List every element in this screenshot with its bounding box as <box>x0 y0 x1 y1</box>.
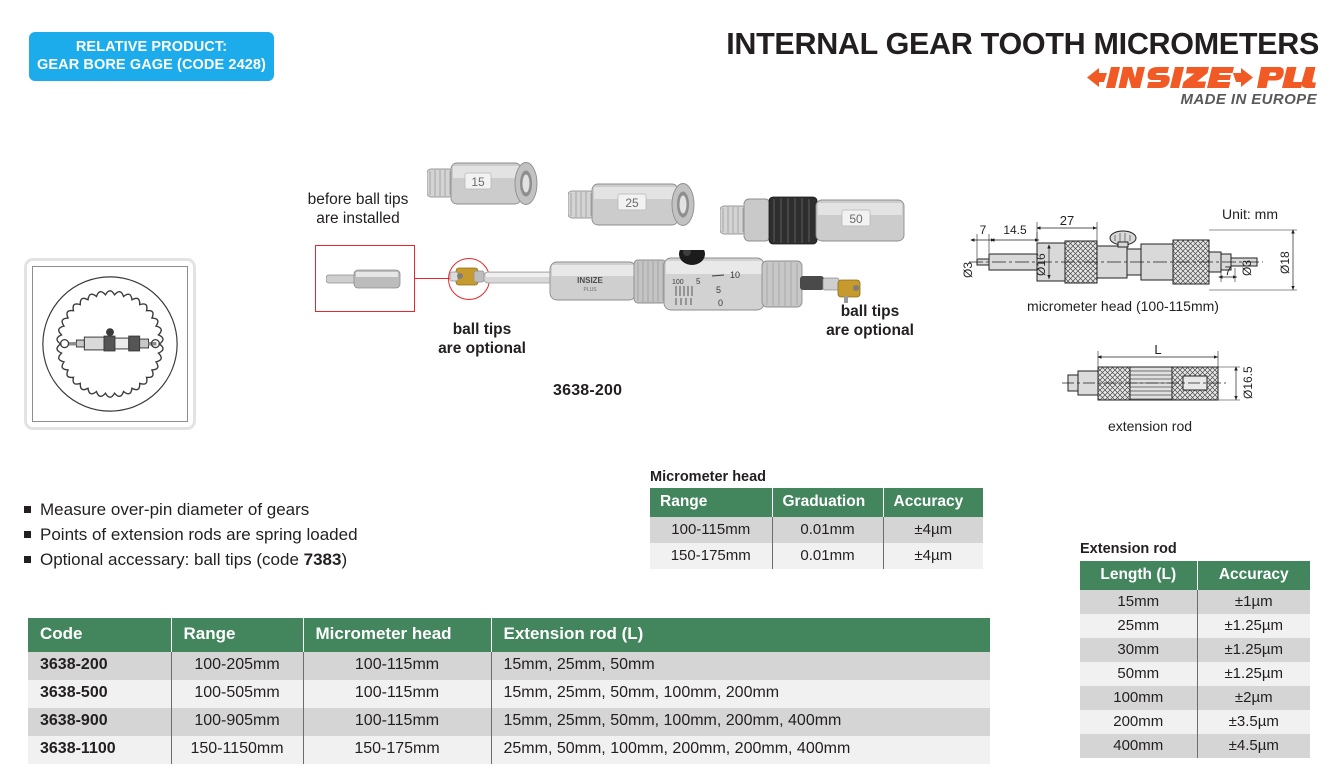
table-header-row: Length (L) Accuracy <box>1080 561 1310 590</box>
table-row: 100-115mm 0.01mm ±4µm <box>650 517 983 543</box>
gear-application-frame <box>32 266 188 422</box>
ball-tips-optional-left: ball tips are optional <box>402 320 562 359</box>
made-in-europe-label: MADE IN EUROPE <box>1085 91 1317 108</box>
extension-rod-50-photo: 50 <box>720 190 920 252</box>
product-code: 3638-500 <box>28 680 171 708</box>
table-header-row: Range Graduation Accuracy <box>650 488 983 517</box>
extension-rod-table-title: Extension rod <box>1080 541 1177 557</box>
product-code: 3638-900 <box>28 708 171 736</box>
dim-dia3-right: Ø3 <box>1240 260 1254 276</box>
micrometer-head-technical-drawing: 7 14.5 27 Ø3 Ø16 7 Ø3 Ø18 <box>963 216 1325 296</box>
internal-gear-diagram-icon <box>33 267 187 421</box>
badge-line-1: RELATIVE PRODUCT: <box>33 38 270 56</box>
table-row: 3638-500 100-505mm 100-115mm 15mm, 25mm,… <box>28 680 990 708</box>
col-range: Range <box>650 488 772 517</box>
dim-dia16: Ø16 <box>1034 253 1048 276</box>
bullet-square-icon <box>24 506 31 513</box>
dim-dia18: Ø18 <box>1278 251 1292 274</box>
col-extension-rod: Extension rod (L) <box>491 618 990 652</box>
relative-product-badge[interactable]: RELATIVE PRODUCT: GEAR BORE GAGE (CODE 2… <box>29 32 274 81</box>
dim-dia16-5: Ø16.5 <box>1241 366 1255 399</box>
table-row: 15mm ±1µm <box>1080 590 1310 614</box>
svg-text:5: 5 <box>716 285 721 295</box>
bullet-square-icon <box>24 531 31 538</box>
badge-line-2: GEAR BORE GAGE (CODE 2428) <box>33 56 270 74</box>
table-row: 200mm ±3.5µm <box>1080 710 1310 734</box>
table-row: 50mm ±1.25µm <box>1080 662 1310 686</box>
col-micrometer-head: Micrometer head <box>303 618 491 652</box>
table-header-row: Code Range Micrometer head Extension rod… <box>28 618 990 652</box>
insize-brand-mark-on-product: INSIZE <box>577 276 603 285</box>
dim-7-right: 7 <box>1225 264 1232 278</box>
extension-rod-table: Length (L) Accuracy 15mm ±1µm 25mm ±1.25… <box>1080 561 1310 758</box>
micrometer-head-table-title: Micrometer head <box>650 469 766 485</box>
micrometer-head-table: Range Graduation Accuracy 100-115mm 0.01… <box>650 488 983 569</box>
svg-text:PLUS: PLUS <box>583 287 597 293</box>
rod-50-label: 50 <box>849 212 863 226</box>
table-row: 25mm ±1.25µm <box>1080 614 1310 638</box>
list-item: Optional accessary: ball tips (code 7383… <box>24 547 358 572</box>
svg-text:10: 10 <box>730 270 740 280</box>
table-row: 3638-900 100-905mm 100-115mm 15mm, 25mm,… <box>28 708 990 736</box>
rod-15-label: 15 <box>471 175 485 189</box>
col-length: Length (L) <box>1080 561 1197 590</box>
dim-27: 27 <box>1060 216 1074 228</box>
dim-14-5: 14.5 <box>1003 223 1027 237</box>
extension-rod-drawing-caption: extension rod <box>1060 418 1240 434</box>
product-code: 3638-200 <box>28 652 171 680</box>
gear-application-box <box>24 258 196 430</box>
svg-text:5: 5 <box>696 277 701 286</box>
ball-tips-optional-right: ball tips are optional <box>785 302 955 341</box>
accessory-code: 7383 <box>304 550 342 569</box>
col-accuracy: Accuracy <box>883 488 983 517</box>
ball-tip-right-icon <box>838 280 860 303</box>
page-title: INTERNAL GEAR TOOTH MICROMETERS <box>726 27 1319 62</box>
ball-tip-left-icon <box>450 268 484 285</box>
list-item: Measure over-pin diameter of gears <box>24 497 358 522</box>
col-graduation: Graduation <box>772 488 883 517</box>
svg-text:100: 100 <box>672 279 684 286</box>
list-item: Points of extension rods are spring load… <box>24 522 358 547</box>
table-row: 400mm ±4.5µm <box>1080 734 1310 758</box>
catalog-page: RELATIVE PRODUCT: GEAR BORE GAGE (CODE 2… <box>0 0 1331 780</box>
product-photo-group: before ball tips are installed 15 <box>290 150 930 415</box>
product-code: 3638-1100 <box>28 736 171 764</box>
micrometer-head-drawing-caption: micrometer head (100-115mm) <box>963 298 1283 314</box>
extension-rod-technical-drawing: L Ø16.5 <box>1060 345 1310 415</box>
col-code: Code <box>28 618 171 652</box>
dim-dia3-left: Ø3 <box>963 262 975 278</box>
before-ball-tips-note: before ball tips are installed <box>298 190 418 229</box>
product-model-caption: 3638-200 <box>553 382 622 400</box>
table-row: 30mm ±1.25µm <box>1080 638 1310 662</box>
rod-25-label: 25 <box>625 196 639 210</box>
col-accuracy: Accuracy <box>1197 561 1310 590</box>
svg-text:0: 0 <box>718 298 723 308</box>
dim-7-left: 7 <box>980 223 987 237</box>
extension-rod-15-photo: 15 <box>427 155 552 213</box>
extension-rod-25-photo: 25 <box>568 175 708 235</box>
table-row: 100mm ±2µm <box>1080 686 1310 710</box>
feature-list: Measure over-pin diameter of gears Point… <box>24 497 358 572</box>
table-row: 150-175mm 0.01mm ±4µm <box>650 543 983 569</box>
product-ordering-table: Code Range Micrometer head Extension rod… <box>28 618 990 764</box>
insize-logo-icon <box>1085 64 1317 91</box>
bullet-square-icon <box>24 556 31 563</box>
table-row: 3638-200 100-205mm 100-115mm 15mm, 25mm,… <box>28 652 990 680</box>
insize-plus-logo: MADE IN EUROPE <box>1085 64 1317 108</box>
dim-L: L <box>1154 345 1161 357</box>
col-range: Range <box>171 618 303 652</box>
table-row: 3638-1100 150-1150mm 150-175mm 25mm, 50m… <box>28 736 990 764</box>
plain-spindle-icon <box>326 268 406 290</box>
